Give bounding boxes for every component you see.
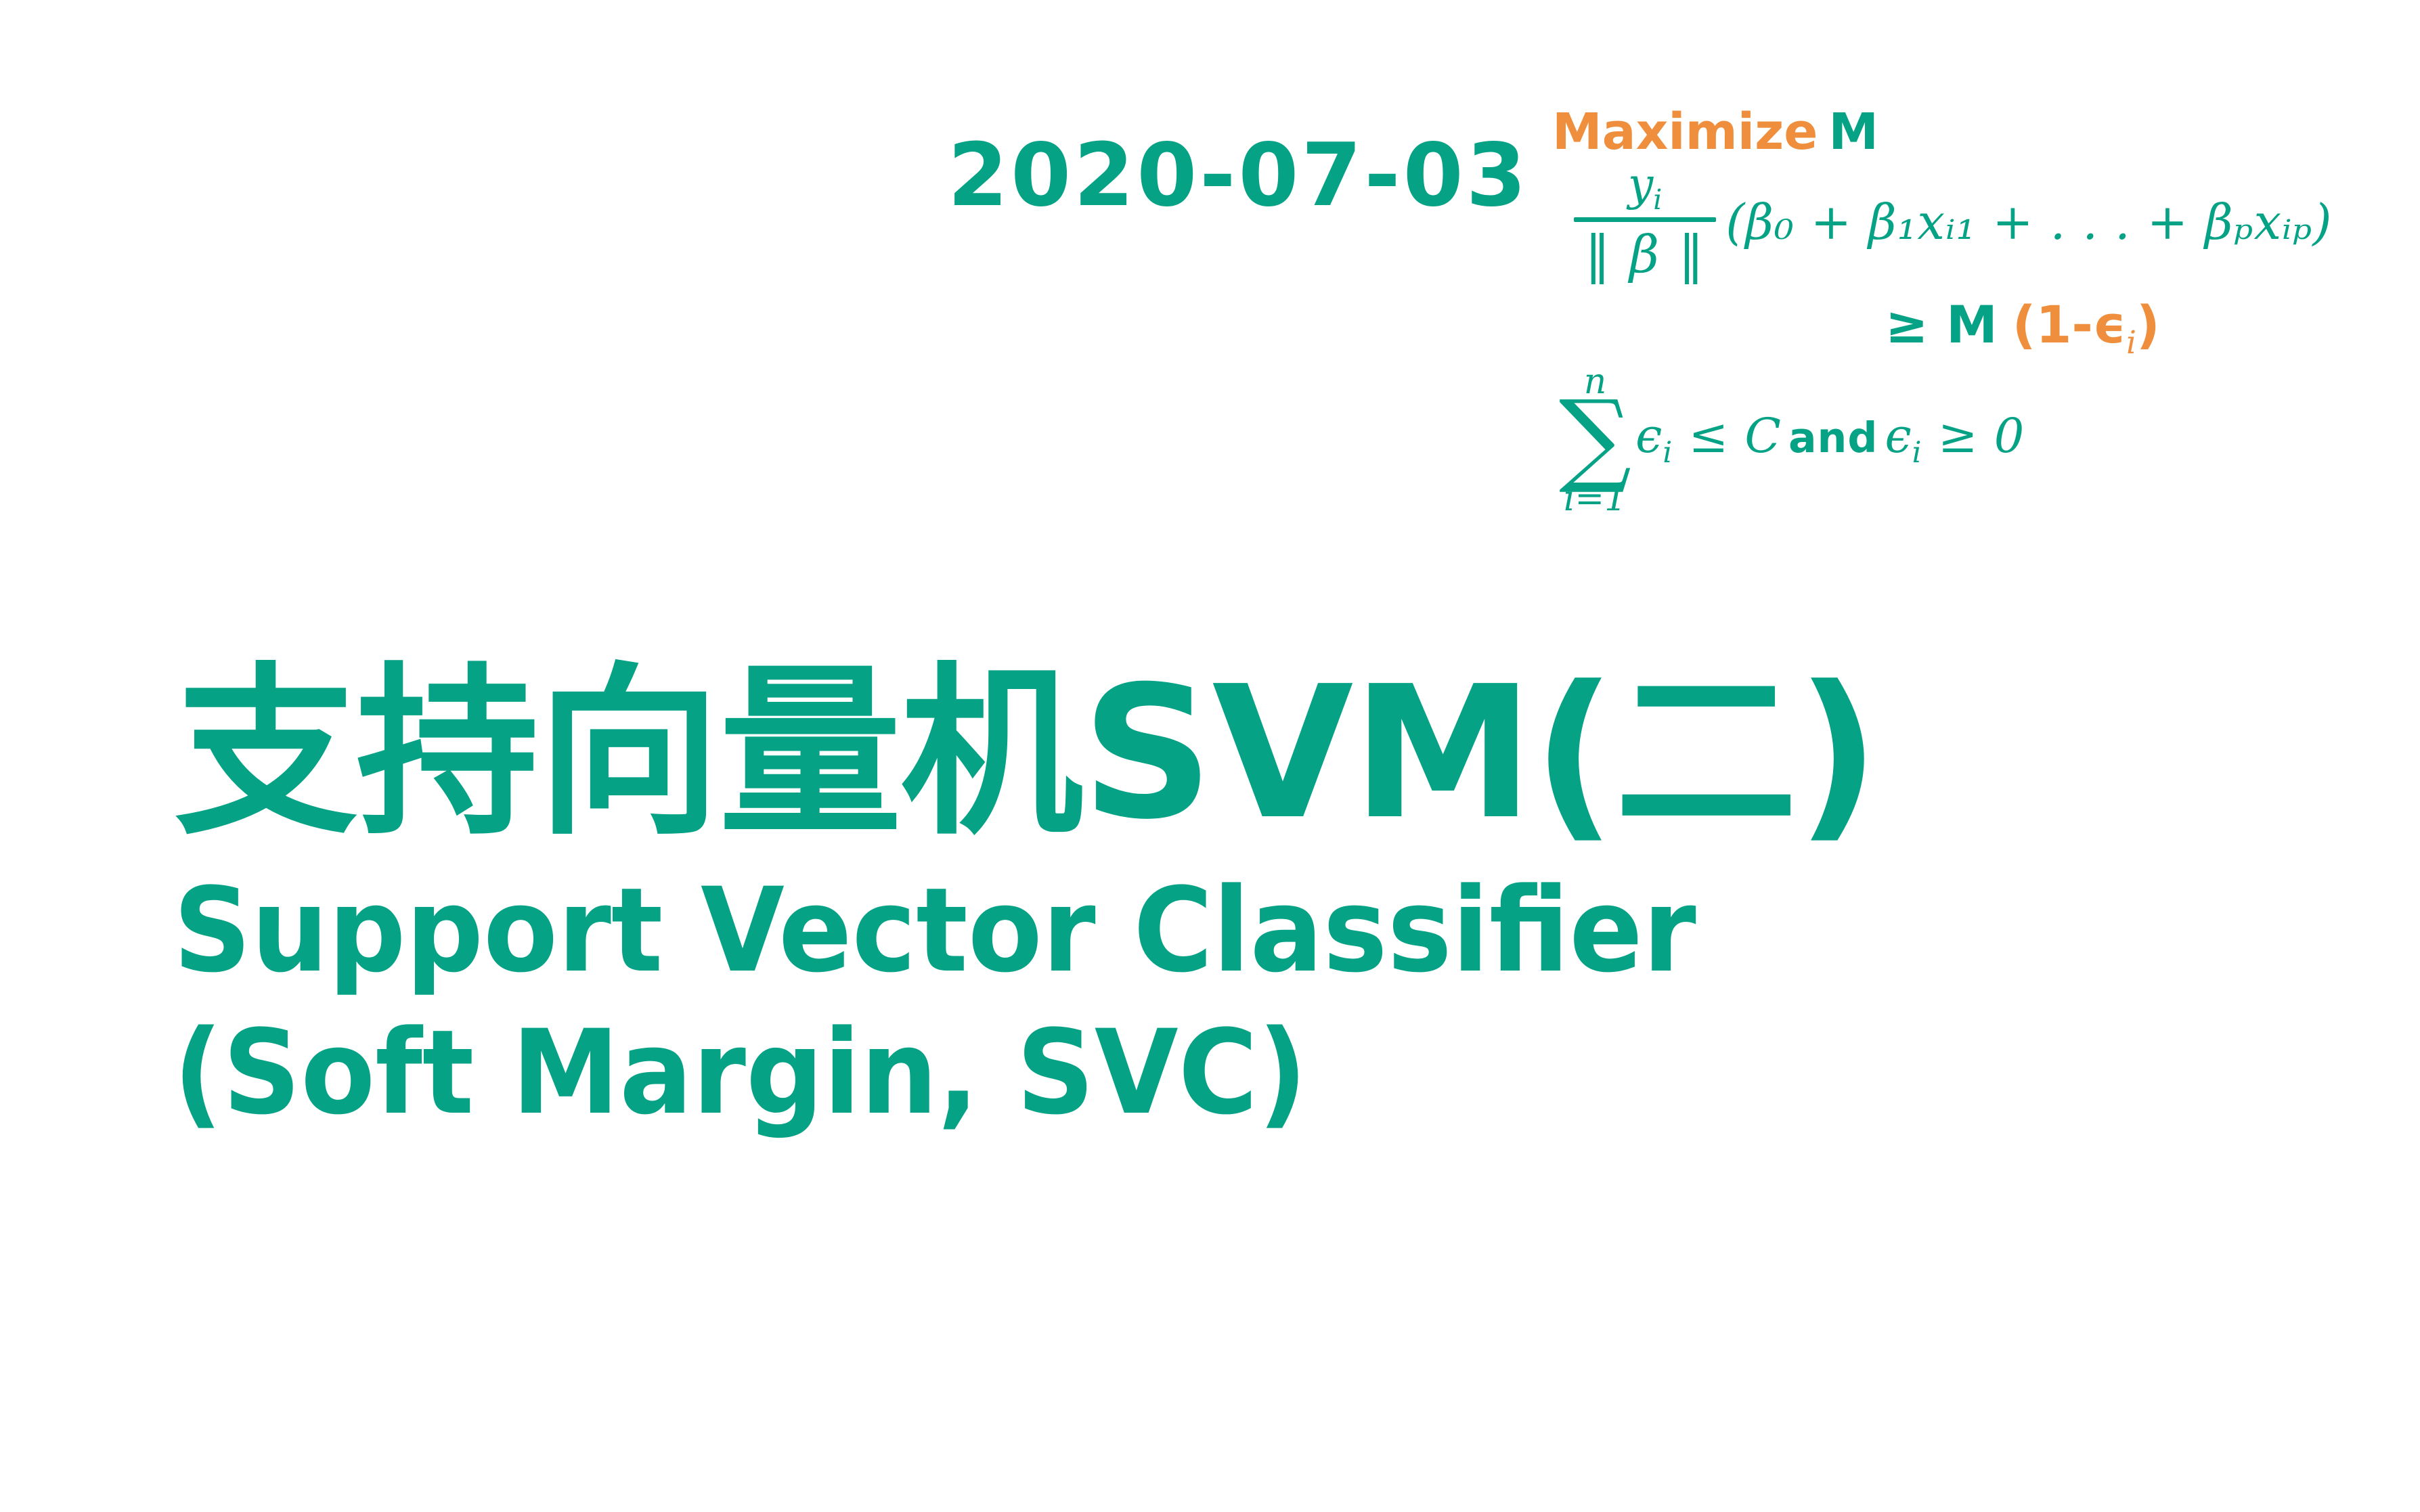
- objective-variable: M: [1828, 103, 1878, 161]
- margin-lower-bound: ≥ M: [1885, 299, 1998, 351]
- subtitle-line-1: Support Vector Classifier: [173, 860, 1696, 1002]
- margin-constraint-line: yi ‖ β ‖ (β₀ + β₁xᵢ₁ + . . . + βₚxᵢₚ): [1547, 161, 2332, 283]
- slack-term: (1-ϵi): [2012, 299, 2160, 359]
- objective-label: Maximize: [1552, 103, 1818, 161]
- normalized-fraction: yi ‖ β ‖: [1574, 161, 1716, 283]
- fraction-bar: [1574, 217, 1716, 222]
- slide-canvas: 2020-07-03 MaximizeM yi ‖ β ‖ (β₀ + β₁xᵢ…: [0, 0, 2420, 1512]
- nonneg-slack-symbol: ϵ: [1885, 408, 1912, 464]
- numerator-variable: y: [1628, 158, 1653, 210]
- sum-slack-symbol: ϵ: [1635, 408, 1663, 464]
- summation-operator: n ∑ i=1: [1559, 364, 1631, 516]
- linear-combination-expression: (β₀ + β₁xᵢ₁ + . . . + βₚxᵢₚ): [1725, 198, 2332, 246]
- subtitle-line-2: (Soft Margin, SVC): [173, 1002, 1696, 1144]
- slack-prefix: (1-: [2012, 294, 2093, 355]
- nonneg-slack-subscript: i: [1912, 436, 1922, 470]
- page-title: 支持向量机SVM(二): [175, 657, 1878, 849]
- budget-constraint-line: n ∑ i=1 ϵi ≤ Candϵi ≥ 0: [1559, 364, 2025, 516]
- date-label: 2020-07-03: [948, 133, 1529, 219]
- budget-constraint-expression: ϵi ≤ Candϵi ≥ 0: [1635, 412, 2025, 468]
- budget-bound: ≤ C: [1688, 408, 1781, 464]
- fraction-denominator: ‖ β ‖: [1574, 222, 1716, 283]
- numerator-subscript: i: [1653, 183, 1662, 216]
- summation-lower-limit: i=1: [1564, 481, 1627, 516]
- conjunction-word: and: [1788, 414, 1878, 462]
- objective-line: MaximizeM: [1552, 107, 1878, 157]
- slack-suffix: ): [2136, 294, 2160, 355]
- slack-constraint-line: ≥ M (1-ϵi): [1885, 299, 2160, 359]
- nonnegativity-bound: ≥ 0: [1938, 408, 2025, 464]
- sigma-icon: ∑: [1559, 397, 1631, 480]
- sum-slack-subscript: i: [1663, 436, 1673, 470]
- slack-subscript: i: [2126, 324, 2136, 361]
- slack-symbol: ϵ: [2093, 294, 2126, 355]
- fraction-numerator: yi: [1616, 161, 1674, 217]
- page-subtitle: Support Vector Classifier (Soft Margin, …: [173, 860, 1696, 1144]
